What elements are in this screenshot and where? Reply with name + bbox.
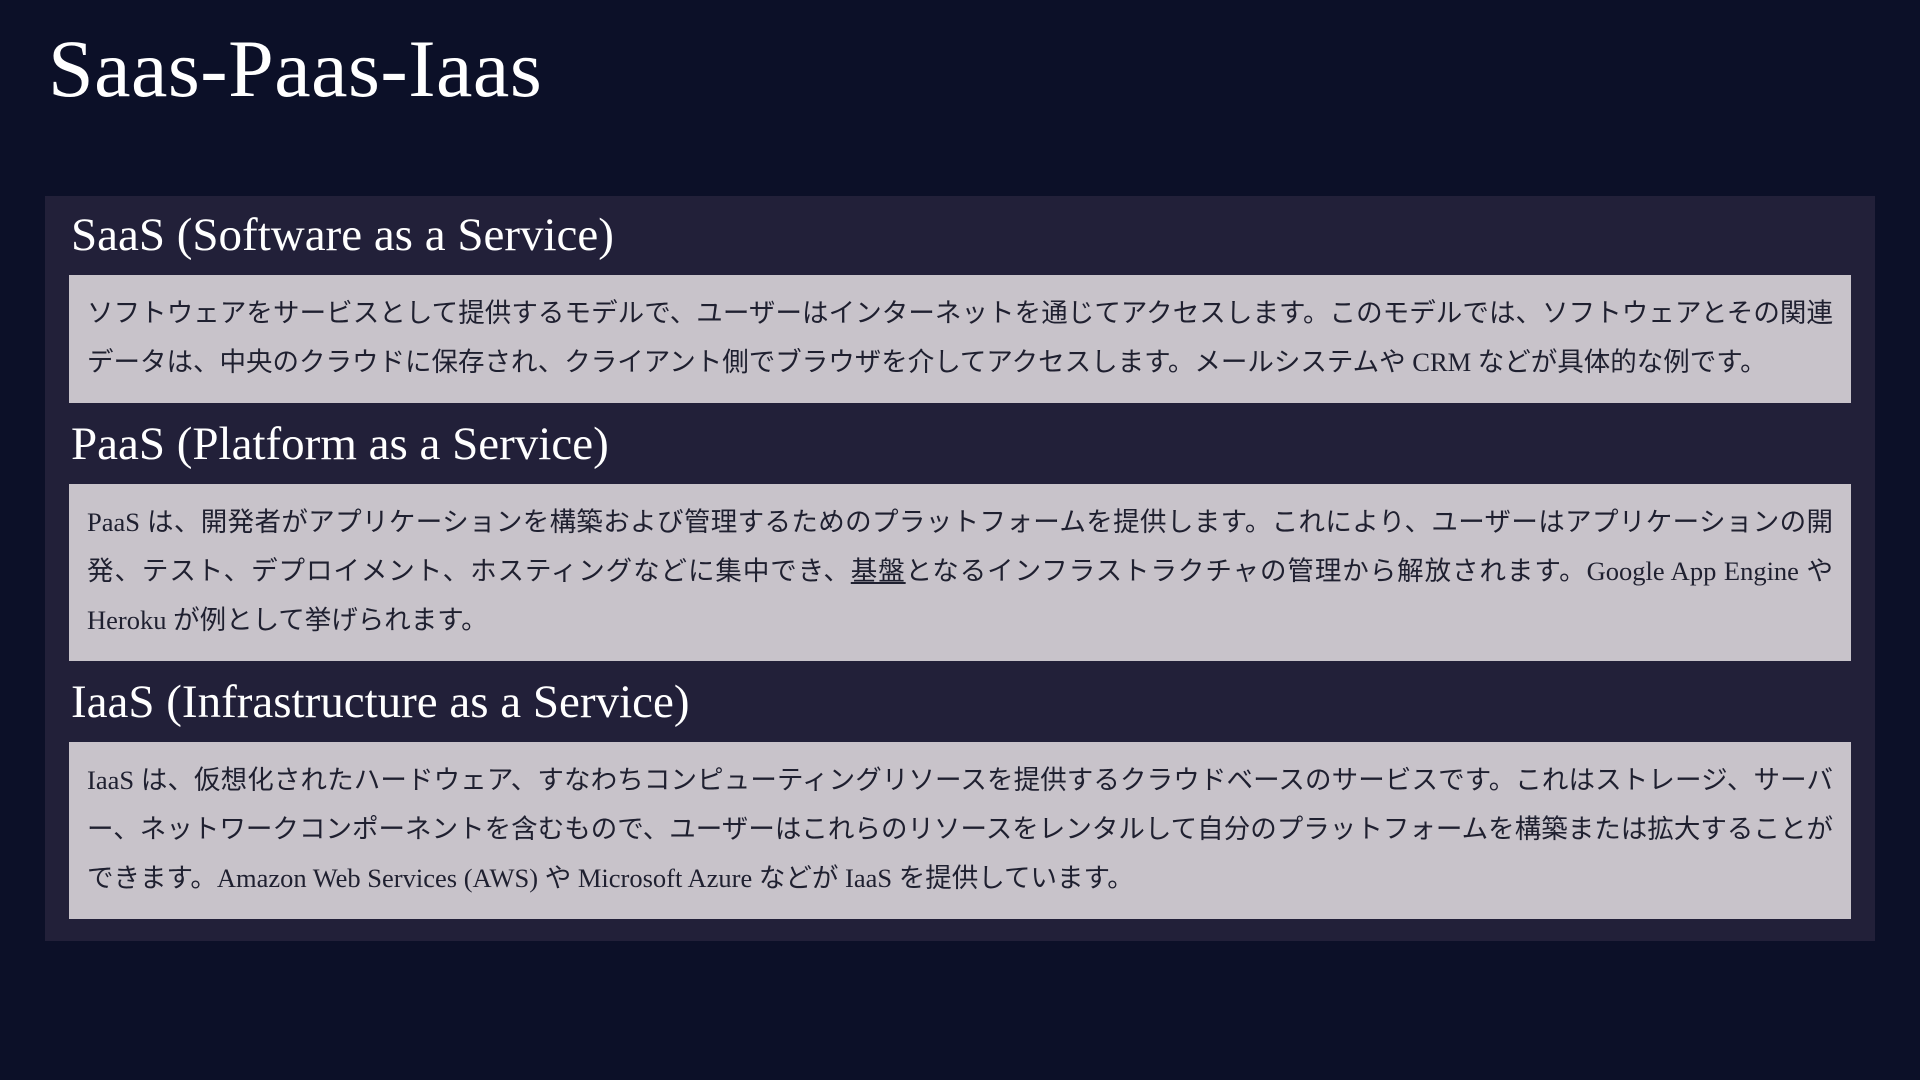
section-body-paas: PaaS は、開発者がアプリケーションを構築および管理するためのプラットフォーム… [69,484,1851,661]
section-heading-paas: PaaS (Platform as a Service) [45,403,1875,484]
section-body-iaas-text-before: IaaS は、仮想化されたハードウェア、すなわちコンピューティングリソースを提供… [87,765,1833,893]
section-body-paas-underlined: 基盤 [851,556,906,586]
section-paas: PaaS (Platform as a Service) PaaS は、開発者が… [45,403,1875,661]
section-heading-iaas: IaaS (Infrastructure as a Service) [45,661,1875,742]
section-body-saas-text-before: ソフトウェアをサービスとして提供するモデルで、ユーザーはインターネットを通じてア… [87,298,1833,377]
section-body-saas: ソフトウェアをサービスとして提供するモデルで、ユーザーはインターネットを通じてア… [69,275,1851,403]
section-heading-saas: SaaS (Software as a Service) [45,196,1875,275]
slide-root: Saas-Paas-Iaas SaaS (Software as a Servi… [0,0,1920,1080]
section-iaas: IaaS (Infrastructure as a Service) IaaS … [45,661,1875,919]
page-title: Saas-Paas-Iaas [48,28,542,110]
section-saas: SaaS (Software as a Service) ソフトウェアをサービス… [45,196,1875,403]
content-panel: SaaS (Software as a Service) ソフトウェアをサービス… [45,196,1875,941]
section-body-iaas: IaaS は、仮想化されたハードウェア、すなわちコンピューティングリソースを提供… [69,742,1851,919]
